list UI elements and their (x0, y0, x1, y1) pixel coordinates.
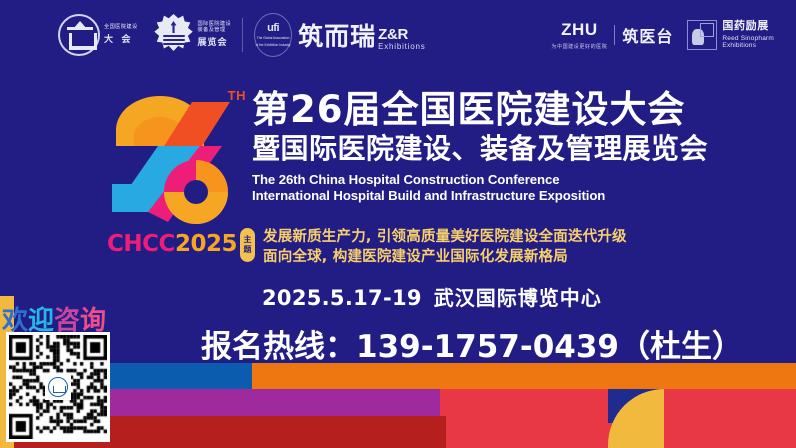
event-date: 2025.5.17-19 (262, 286, 422, 310)
chcc-conference-emblem: 全国医院建设 大 会 (58, 14, 138, 56)
page-title-en-line2: International Hospital Build and Infrast… (252, 188, 792, 204)
reed-sinopharm-logo: 国药励展 Reed Sinopharm Exhibitions (687, 20, 774, 50)
header-logo-bar: 全国医院建设 大 会 国际医院建设 装备及管理 展览会 ufi (0, 0, 796, 68)
anniversary-26th-logo: TH CHCC2025 (96, 84, 248, 259)
poster-body: TH CHCC2025 第26届全国医院建设大会 暨国际医院建设、装备及管理展览… (0, 68, 796, 363)
exhibition-emblem-text: 国际医院建设 装备及管理 展览会 (198, 22, 232, 47)
zr-en-block: Z&R Exhibitions (378, 27, 426, 53)
chcc-prefix-label: CHCC (107, 231, 175, 257)
ufi-sub-label-2: of the Exhibition Industry (256, 43, 291, 47)
theme-badge-char-2: 题 (244, 245, 252, 255)
qr-center-emblem-icon (48, 377, 68, 397)
chcc-wordmark: CHCC2025 (96, 231, 248, 257)
zhu-wordmark: ZHU 为中国建设更好的医院 (551, 20, 607, 50)
title-block: 第26届全国医院建设大会 暨国际医院建设、装备及管理展览会 The 26th C… (252, 90, 792, 205)
emblem-small-label: 全国医院建设 (104, 25, 138, 31)
reed-text-block: 国药励展 Reed Sinopharm Exhibitions (722, 20, 774, 50)
qr-consult-panel[interactable]: 欢迎咨询 (0, 296, 112, 448)
header-divider (242, 18, 243, 52)
header-left-logos: 全国医院建设 大 会 国际医院建设 装备及管理 展览会 ufi (58, 12, 426, 58)
theme-line-2: 面向全球, 构建医院建设产业国际化发展新格局 (263, 249, 627, 266)
hotline-full-label: 报名热线：139-1757-0439（杜生） (53, 329, 743, 365)
zr-exhibitions-logo: 筑而瑞 Z&R Exhibitions (298, 17, 426, 53)
logo-26-graphic (96, 84, 248, 234)
ufi-sub-label-1: The Global Association (257, 36, 290, 40)
zhu-divider (614, 25, 615, 45)
bottom-color-bands (0, 363, 796, 448)
ordinal-suffix-label: TH (228, 88, 246, 103)
reed-en-label-1: Reed Sinopharm (722, 35, 774, 42)
building-emblem-icon (58, 14, 100, 56)
zhu-slogan-label: 为中国建设更好的医院 (551, 43, 607, 50)
theme-block: 主 题 发展新质生产力, 引领高质量美好医院建设全面迭代升级 面向全球, 构建医… (240, 228, 627, 267)
reed-en-label-2: Exhibitions (722, 42, 774, 49)
poster-root: 全国医院建设 大 会 国际医院建设 装备及管理 展览会 ufi (0, 0, 796, 448)
event-venue: 武汉国际博览中心 (434, 282, 602, 311)
page-title-en-line1: The 26th China Hospital Construction Con… (252, 172, 792, 188)
chcc-year-label: 2025 (175, 231, 237, 257)
exhibition-emblem: 国际医院建设 装备及管理 展览会 (154, 14, 232, 56)
snowflake-icon (154, 14, 194, 56)
zhu-word-label: ZHU (561, 20, 597, 40)
theme-line-1: 发展新质生产力, 引领高质量美好医院建设全面迭代升级 (263, 229, 627, 246)
band-orange (252, 363, 796, 389)
reed-emblem-icon (687, 20, 717, 50)
emblem-big-label: 大 会 (104, 34, 138, 44)
ufi-badge-icon: ufi The Global Association of the Exhibi… (254, 13, 292, 57)
ufi-mark-label: ufi (267, 23, 279, 34)
theme-badge: 主 题 (240, 228, 255, 262)
reed-cn-label: 国药励展 (722, 20, 774, 33)
exhibition-big-label: 展览会 (198, 37, 232, 47)
theme-badge-char-1: 主 (244, 235, 252, 245)
exhibition-small-label-2: 装备及管理 (198, 28, 232, 34)
page-title-cn-sub: 暨国际医院建设、装备及管理展览会 (252, 132, 792, 165)
qr-center-logo (45, 374, 71, 400)
page-title-cn-main: 第26届全国医院建设大会 (252, 90, 792, 130)
qr-code[interactable] (6, 332, 110, 442)
roof-shape-icon (73, 21, 87, 29)
wave-lines-icon (163, 35, 185, 47)
header-right-logos: ZHU 为中国建设更好的医院 筑医台 国药励展 Reed Sinopharm E… (551, 14, 774, 56)
zhu-medical-logo: ZHU 为中国建设更好的医院 筑医台 (551, 20, 673, 50)
theme-text-lines: 发展新质生产力, 引领高质量美好医院建设全面迭代升级 面向全球, 构建医院建设产… (263, 228, 627, 267)
event-date-venue: 2025.5.17-19 武汉国际博览中心 (262, 282, 602, 311)
zhu-cn-label: 筑医台 (622, 23, 673, 47)
zr-cn-label: 筑而瑞 (298, 17, 376, 53)
chcc-conference-emblem-text: 全国医院建设 大 会 (104, 25, 138, 44)
page-title-en: The 26th China Hospital Construction Con… (252, 172, 792, 205)
zr-en-top-label: Z&R (378, 27, 426, 43)
hotline-text: 报名热线：139-1757-0439（杜生） (0, 321, 796, 366)
zr-en-bottom-label: Exhibitions (378, 43, 426, 51)
